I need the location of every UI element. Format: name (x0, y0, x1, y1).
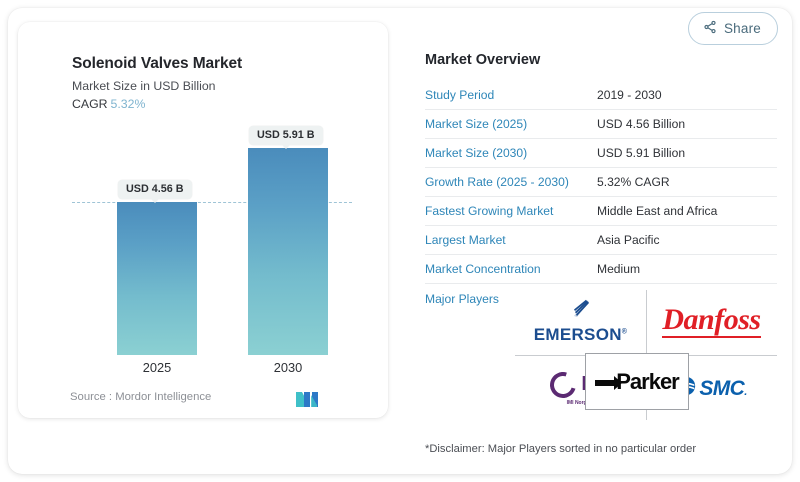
row-value: Middle East and Africa (597, 204, 717, 218)
row-key: Fastest Growing Market (425, 204, 597, 218)
x-axis-label-2025: 2025 (117, 360, 197, 375)
row-value: Asia Pacific (597, 233, 660, 247)
row-key: Market Size (2025) (425, 117, 597, 131)
disclaimer-text: *Disclaimer: Major Players sorted in no … (425, 443, 696, 455)
parker-logo: Parker (595, 369, 679, 395)
table-row: Market Size (2025) USD 4.56 Billion (425, 110, 777, 139)
bar-label-2030: USD 5.91 B (249, 126, 323, 145)
row-value: 2019 - 2030 (597, 88, 662, 102)
share-button-label: Share (724, 21, 761, 36)
chart-card: Solenoid Valves Market Market Size in US… (18, 22, 388, 418)
table-row: Fastest Growing Market Middle East and A… (425, 197, 777, 226)
logo-cell-danfoss: Danfoss (646, 288, 777, 355)
mordor-intelligence-logo-icon (295, 389, 321, 414)
source-label: Source : Mordor Intelligence (70, 391, 211, 403)
overview-title: Market Overview (425, 52, 540, 68)
bar-2030[interactable] (248, 148, 328, 355)
overview-table: Study Period 2019 - 2030 Market Size (20… (425, 81, 777, 313)
logo-cell-emerson: EMERSON® (515, 288, 646, 355)
share-button[interactable]: Share (688, 12, 778, 45)
row-key: Largest Market (425, 233, 597, 247)
row-value: Medium (597, 262, 640, 276)
table-row: Largest Market Asia Pacific (425, 226, 777, 255)
logo-cell-parker: Parker (585, 353, 689, 410)
table-row: Study Period 2019 - 2030 (425, 81, 777, 110)
row-key: Study Period (425, 88, 597, 102)
parker-wordmark: Parker (616, 369, 679, 395)
parker-arrow-icon (595, 380, 615, 386)
danfoss-logo: Danfoss (662, 305, 760, 338)
table-row: Market Size (2030) USD 5.91 Billion (425, 139, 777, 168)
smc-wordmark: SMC. (699, 377, 746, 401)
row-key: Growth Rate (2025 - 2030) (425, 175, 597, 189)
bar-2025[interactable] (117, 202, 197, 355)
row-value: USD 5.91 Billion (597, 146, 685, 160)
screenshot-root: Share Solenoid Valves Market Market Size… (0, 0, 800, 482)
imi-ring-icon (546, 367, 581, 402)
table-row: Growth Rate (2025 - 2030) 5.32% CAGR (425, 168, 777, 197)
share-icon (703, 20, 717, 37)
table-row: Market Concentration Medium (425, 255, 777, 284)
row-value: 5.32% CAGR (597, 175, 670, 189)
row-key: Market Size (2030) (425, 146, 597, 160)
row-value: USD 4.56 Billion (597, 117, 685, 131)
row-key: Market Concentration (425, 262, 597, 276)
bar-label-2025: USD 4.56 B (118, 180, 192, 199)
bar-chart-plot: USD 4.56 B USD 5.91 B 2025 2030 (18, 22, 388, 418)
emerson-mark-icon (568, 299, 594, 324)
x-axis-label-2030: 2030 (248, 360, 328, 375)
emerson-wordmark: EMERSON® (534, 325, 628, 345)
emerson-logo: EMERSON® (534, 299, 628, 345)
